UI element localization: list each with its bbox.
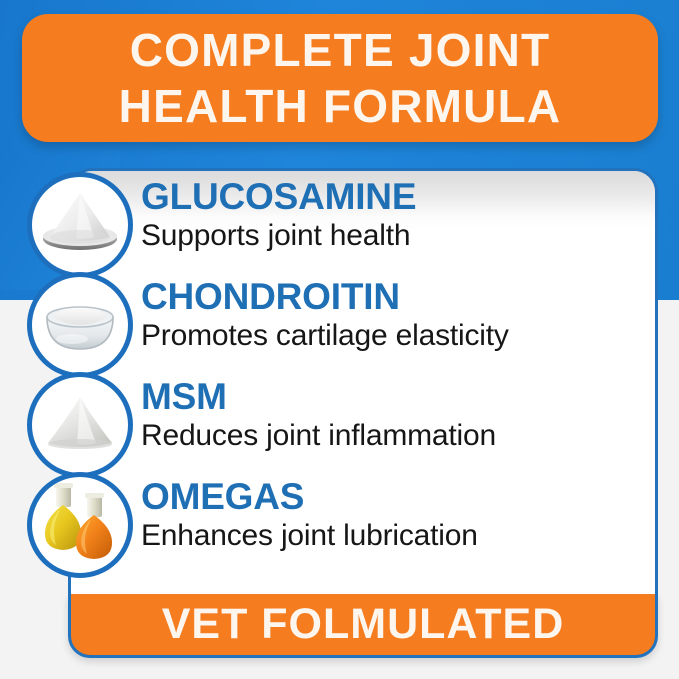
ingredient-name: GLUCOSAMINE (141, 178, 646, 216)
joint-health-formula-infographic: COMPLETE JOINT HEALTH FORMULA (0, 0, 679, 679)
ingredient-description: Enhances joint lubrication (141, 518, 646, 553)
list-item: OMEGAS Enhances joint lubrication (0, 470, 679, 570)
title-line-2: HEALTH FORMULA (119, 78, 562, 134)
list-item: GLUCOSAMINE Supports joint health (0, 170, 679, 270)
powder-mound-icon (27, 372, 133, 478)
list-item: MSM Reduces joint inflammation (0, 370, 679, 470)
ingredient-text-block: OMEGAS Enhances joint lubrication (141, 478, 646, 553)
powder-cone-on-dish-icon (27, 172, 133, 278)
oil-flasks-icon (27, 472, 133, 578)
list-item: CHONDROITIN Promotes cartilage elasticit… (0, 270, 679, 370)
ingredient-description: Reduces joint inflammation (141, 418, 646, 453)
ingredients-list: GLUCOSAMINE Supports joint health (0, 170, 679, 570)
ingredient-text-block: CHONDROITIN Promotes cartilage elasticit… (141, 278, 646, 353)
ingredient-name: OMEGAS (141, 478, 646, 516)
vet-formulated-banner: VET FOLMULATED (68, 594, 658, 658)
powder-in-petri-dish-icon (27, 272, 133, 378)
ingredient-name: CHONDROITIN (141, 278, 646, 316)
ingredient-text-block: MSM Reduces joint inflammation (141, 378, 646, 453)
ingredient-name: MSM (141, 378, 646, 416)
vet-formulated-label: VET FOLMULATED (162, 600, 565, 649)
title-line-1: COMPLETE JOINT (130, 22, 551, 78)
ingredient-description: Supports joint health (141, 218, 646, 253)
ingredient-description: Promotes cartilage elasticity (141, 318, 646, 353)
title-banner: COMPLETE JOINT HEALTH FORMULA (22, 14, 658, 142)
ingredient-text-block: GLUCOSAMINE Supports joint health (141, 178, 646, 253)
